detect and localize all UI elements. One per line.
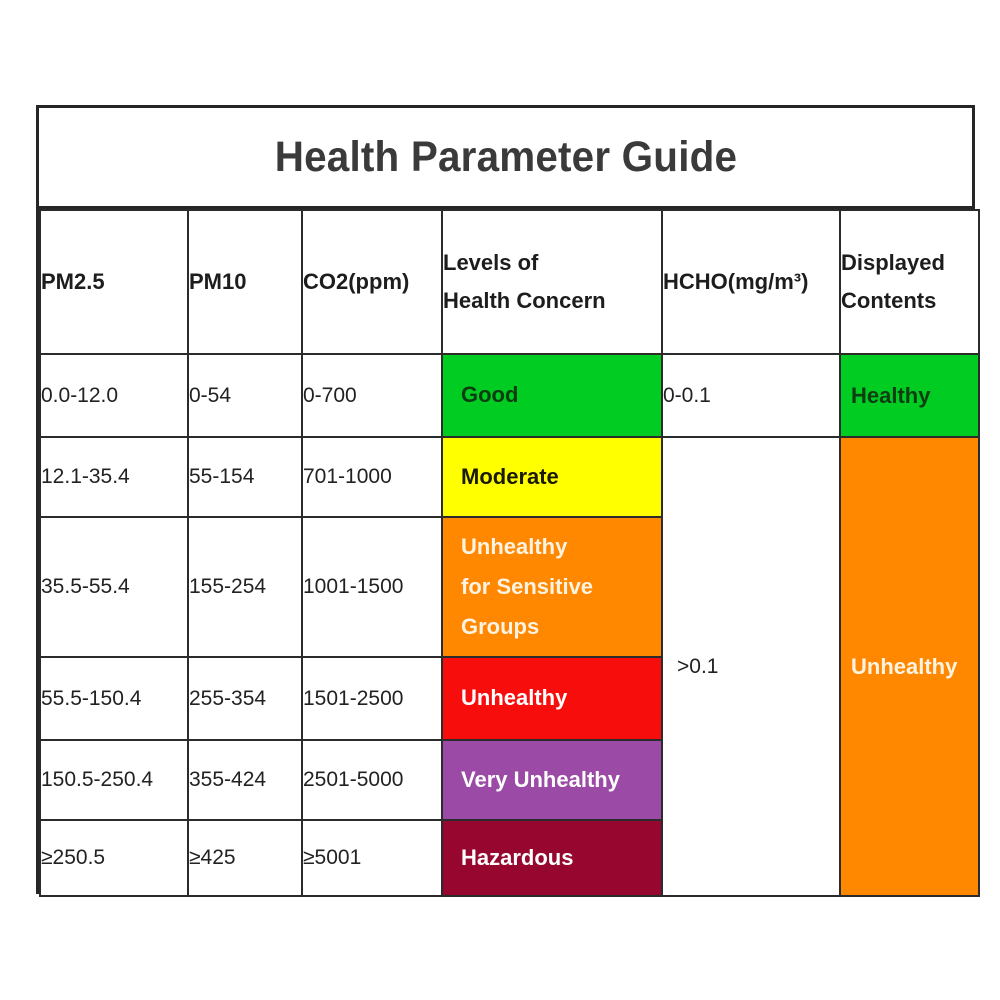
cell-pm25: 150.5-250.4 [40, 740, 188, 820]
cell-co2: 1001-1500 [302, 517, 442, 657]
cell-co2: 2501-5000 [302, 740, 442, 820]
column-header-levels-line1: Levels of [443, 244, 661, 282]
level-swatch-usg: Unhealthy for Sensitive Groups [443, 518, 661, 656]
page-title: Health Parameter Guide [274, 133, 736, 182]
table-row: 0.0-12.0 0-54 0-700 Good 0-0.1 Healthy [40, 354, 979, 437]
displayed-label-healthy: Healthy [851, 383, 930, 409]
displayed-label-unhealthy: Unhealthy [851, 654, 957, 680]
cell-level-usg: Unhealthy for Sensitive Groups [442, 517, 662, 657]
level-label-usg-line2: for Sensitive [461, 567, 643, 607]
cell-pm25: 12.1-35.4 [40, 437, 188, 517]
cell-pm25: ≥250.5 [40, 820, 188, 896]
table-row: 12.1-35.4 55-154 701-1000 Moderate >0.1 [40, 437, 979, 517]
column-header-pm25-label: PM2.5 [41, 269, 105, 294]
health-parameter-table: PM2.5 PM10 CO2(ppm) Levels of Health Con… [39, 209, 980, 897]
cell-level-good: Good [442, 354, 662, 437]
cell-co2: ≥5001 [302, 820, 442, 896]
health-parameter-guide-image: Health Parameter Guide PM2.5 [0, 0, 1000, 1000]
cell-pm10: 355-424 [188, 740, 302, 820]
column-header-hcho: HCHO(mg/m³) [662, 210, 840, 354]
cell-pm25: 35.5-55.4 [40, 517, 188, 657]
level-label-moderate: Moderate [461, 457, 643, 497]
column-header-levels-line2: Health Concern [443, 282, 661, 320]
cell-pm25: 55.5-150.4 [40, 657, 188, 740]
cell-displayed-healthy: Healthy [840, 354, 979, 437]
guide-grid: PM2.5 PM10 CO2(ppm) Levels of Health Con… [39, 209, 972, 891]
cell-displayed-unhealthy: Unhealthy [840, 437, 979, 896]
column-header-pm10: PM10 [188, 210, 302, 354]
guide-table-frame: Health Parameter Guide PM2.5 [36, 105, 975, 894]
level-label-very-unhealthy: Very Unhealthy [461, 760, 643, 800]
column-header-displayed: Displayed Contents [840, 210, 979, 354]
column-header-pm25: PM2.5 [40, 210, 188, 354]
level-label-usg-line1: Unhealthy [461, 527, 643, 567]
level-swatch-hazardous: Hazardous [443, 821, 661, 895]
column-header-co2: CO2(ppm) [302, 210, 442, 354]
displayed-badge-unhealthy: Unhealthy [841, 438, 978, 895]
cell-pm10: 55-154 [188, 437, 302, 517]
cell-pm10: ≥425 [188, 820, 302, 896]
table-header-row: PM2.5 PM10 CO2(ppm) Levels of Health Con… [40, 210, 979, 354]
column-header-co2-label: CO2(ppm) [303, 269, 409, 294]
cell-co2: 701-1000 [302, 437, 442, 517]
cell-hcho-unhealthy: >0.1 [662, 437, 840, 896]
cell-co2: 0-700 [302, 354, 442, 437]
level-label-hazardous: Hazardous [461, 838, 643, 878]
column-header-levels: Levels of Health Concern [442, 210, 662, 354]
cell-pm25: 0.0-12.0 [40, 354, 188, 437]
column-header-displayed-line2: Contents [841, 282, 978, 320]
level-label-unhealthy: Unhealthy [461, 678, 643, 718]
cell-level-moderate: Moderate [442, 437, 662, 517]
column-header-hcho-label: HCHO(mg/m³) [663, 269, 808, 294]
cell-level-unhealthy: Unhealthy [442, 657, 662, 740]
cell-hcho-unhealthy-label: >0.1 [663, 438, 839, 895]
cell-hcho-good: 0-0.1 [662, 354, 840, 437]
level-label-usg-line3: Groups [461, 607, 643, 647]
column-header-displayed-line1: Displayed [841, 244, 978, 282]
title-band: Health Parameter Guide [39, 108, 972, 209]
cell-pm10: 155-254 [188, 517, 302, 657]
cell-pm10: 0-54 [188, 354, 302, 437]
level-swatch-moderate: Moderate [443, 438, 661, 516]
level-swatch-unhealthy: Unhealthy [443, 658, 661, 739]
level-swatch-good: Good [443, 355, 661, 436]
displayed-badge-healthy: Healthy [841, 355, 978, 436]
level-label-good: Good [461, 375, 643, 415]
column-header-pm10-label: PM10 [189, 269, 246, 294]
cell-level-hazardous: Hazardous [442, 820, 662, 896]
cell-co2: 1501-2500 [302, 657, 442, 740]
level-swatch-very-unhealthy: Very Unhealthy [443, 741, 661, 819]
cell-level-very-unhealthy: Very Unhealthy [442, 740, 662, 820]
cell-pm10: 255-354 [188, 657, 302, 740]
